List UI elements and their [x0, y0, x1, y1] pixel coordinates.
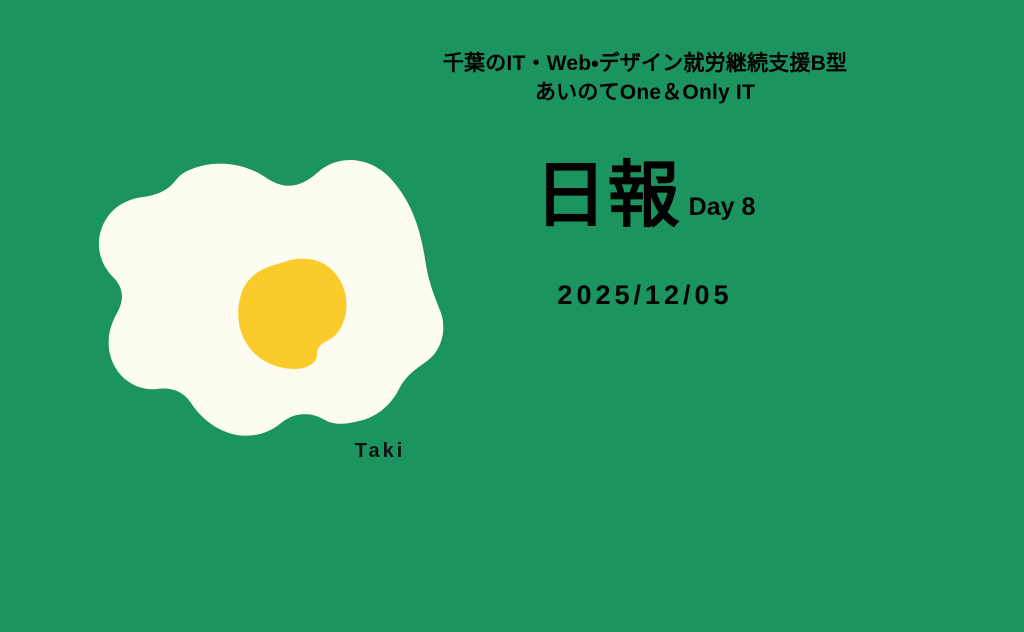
organization-line-2: あいのてOne＆Only IT	[400, 79, 890, 108]
yolk-label: Taki	[335, 441, 425, 461]
organization-line-1: 千葉のIT・Web・デザイン就労継続支援B型	[400, 50, 890, 79]
date-block: 2025/12/05	[400, 282, 890, 309]
day-counter-label: Day 8	[681, 195, 756, 229]
report-date: 2025/12/05	[557, 280, 732, 310]
fried-egg-illustration: Taki	[95, 155, 445, 455]
title-block: 日報 Day 8	[400, 163, 890, 229]
slide-canvas: Taki 千葉のIT・Web・デザイン就労継続支援B型 あいのてOne＆Only…	[0, 0, 1024, 632]
organization-header: 千葉のIT・Web・デザイン就労継続支援B型 あいのてOne＆Only IT	[400, 50, 890, 108]
page-title: 日報	[535, 163, 681, 229]
